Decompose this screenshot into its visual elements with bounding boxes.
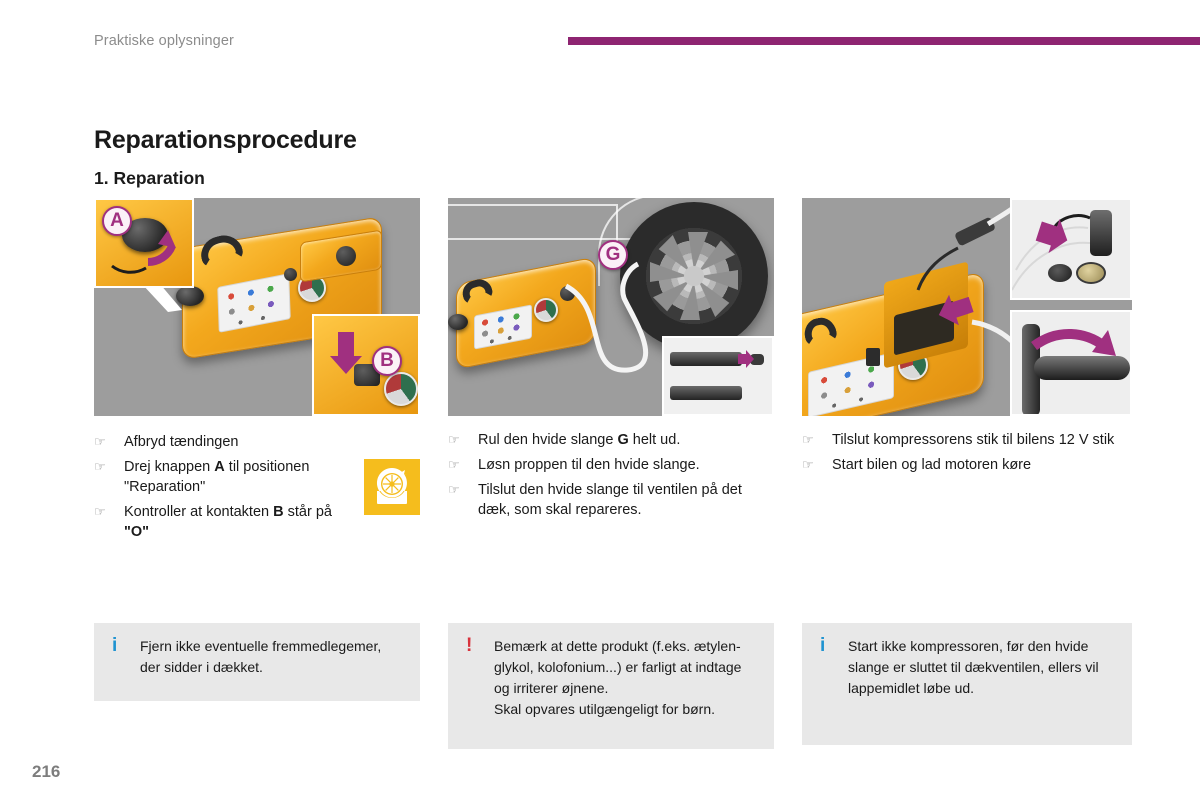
press-down-arrow-icon [314, 316, 420, 416]
bullet-item: ☞Afbryd tændingen [94, 432, 352, 452]
bullet-text: Afbryd tændingen [124, 432, 352, 452]
inset-switch-detail: B [312, 314, 420, 416]
running-head: Praktiske oplysninger [94, 33, 234, 49]
bullet-item: ☞Drej knappen A til positionen "Reparati… [94, 457, 352, 497]
info-icon: i [108, 636, 140, 678]
bullet-hand-icon: ☞ [94, 457, 124, 497]
bullet-text: Løsn proppen til den hvide slange. [478, 455, 768, 475]
note-line: Start ikke kompressoren, før den hvide s… [848, 636, 1116, 699]
bullet-hand-icon: ☞ [448, 455, 478, 475]
section-title: 1. Reparation [94, 168, 205, 189]
bullet-text: Start bilen og lad motoren køre [832, 455, 1120, 475]
bullet-text: Kontroller at kontakten B står på "O" [124, 502, 352, 542]
warning-icon: ! [462, 636, 494, 720]
note-text-2: Bemærk at dette produkt (f.eks. ætylen-g… [494, 636, 758, 720]
bullet-item: ☞Rul den hvide slange G helt ud. [448, 430, 768, 450]
bullet-item: ☞Kontroller at kontakten B står på "O" [94, 502, 352, 542]
bullet-hand-icon: ☞ [94, 502, 124, 542]
power-button-top [336, 246, 356, 266]
page-title: Reparationsprocedure [94, 126, 357, 155]
inset-plug-detail [1010, 310, 1132, 416]
bullet-hand-icon: ☞ [94, 432, 124, 452]
bullet-text: Rul den hvide slange G helt ud. [478, 430, 768, 450]
note-box-info-1: i Fjern ikke eventuelle fremmedlegemer, … [94, 623, 420, 701]
note-line: Skal opvares utilgængeligt for børn. [494, 699, 758, 720]
illustration-12v-connection [802, 198, 1132, 416]
switch-b [284, 268, 297, 281]
illustration-compressor-controls: A B [94, 198, 420, 416]
plug-cable-icon [1012, 200, 1132, 300]
callout-badge-a: A [102, 206, 132, 236]
bullet-text: Tilslut kompressorens stik til bilens 12… [832, 430, 1120, 450]
insert-arrow-icon [664, 338, 774, 416]
illustration-hose-to-valve: G [448, 198, 774, 416]
inset-hose-connectors [662, 336, 774, 416]
socket [1076, 262, 1106, 284]
bullet-hand-icon: ☞ [448, 480, 478, 520]
figure-repair-step-1: A B [94, 198, 420, 416]
bullet-item: ☞Løsn proppen til den hvide slange. [448, 455, 768, 475]
callout-badge-b: B [372, 346, 402, 376]
bullet-text: Tilslut den hvide slange til ventilen på… [478, 480, 768, 520]
figure-repair-step-3 [802, 198, 1132, 416]
note-line: Fjern ikke eventuelle fremmedlegemer, de… [140, 636, 404, 678]
info-icon: i [816, 636, 848, 699]
note-text-3: Start ikke kompressoren, før den hvide s… [848, 636, 1116, 699]
socket-cap [1048, 264, 1072, 282]
instruction-list-step-2: ☞Rul den hvide slange G helt ud.☞Løsn pr… [448, 430, 768, 525]
manual-page: Praktiske oplysninger Reparationsprocedu… [0, 0, 1200, 800]
callout-badge-g: G [598, 240, 628, 270]
note-box-warning: ! Bemærk at dette produkt (f.eks. ætylen… [448, 623, 774, 749]
bullet-hand-icon: ☞ [802, 430, 832, 450]
inset-12v-socket [1010, 198, 1132, 300]
twist-arrow-icon [1012, 312, 1132, 416]
instruction-list-step-1: ☞Afbryd tændingen☞Drej knappen A til pos… [94, 432, 352, 547]
bullet-item: ☞Start bilen og lad motoren køre [802, 455, 1120, 475]
bullet-hand-icon: ☞ [448, 430, 478, 450]
leader-line-a [138, 284, 198, 344]
note-box-info-2: i Start ikke kompressoren, før den hvide… [802, 623, 1132, 745]
header-rule [568, 37, 1200, 45]
tyre-wheel-icon [370, 465, 414, 509]
compressor-tyre-pictogram [364, 459, 420, 515]
bullet-text: Drej knappen A til positionen "Reparatio… [124, 457, 352, 497]
instruction-list-step-3: ☞Tilslut kompressorens stik til bilens 1… [802, 430, 1120, 480]
figure-repair-step-2: G [448, 198, 774, 416]
bullet-hand-icon: ☞ [802, 455, 832, 475]
page-number: 216 [32, 762, 60, 782]
bullet-item: ☞Tilslut kompressorens stik til bilens 1… [802, 430, 1120, 450]
bullet-item: ☞Tilslut den hvide slange til ventilen p… [448, 480, 768, 520]
note-text-1: Fjern ikke eventuelle fremmedlegemer, de… [140, 636, 404, 678]
note-line: Bemærk at dette produkt (f.eks. ætylen-g… [494, 636, 758, 699]
